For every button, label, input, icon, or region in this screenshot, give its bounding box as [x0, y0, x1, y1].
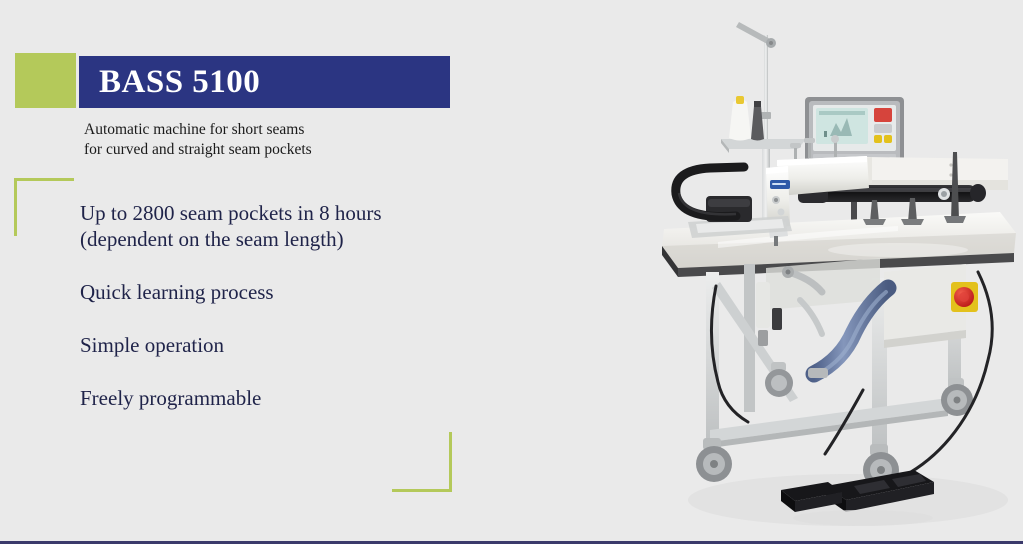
- list-item: Up to 2800 seam pockets in 8 hours (depe…: [80, 200, 500, 252]
- panel-button-yellow[interactable]: [874, 135, 882, 143]
- title-banner: BASS 5100: [79, 56, 450, 108]
- emergency-stop-button[interactable]: [951, 282, 978, 312]
- page-title: BASS 5100: [99, 64, 260, 101]
- list-item: Quick learning process: [80, 279, 500, 305]
- subtitle-line-1: Automatic machine for short seams: [84, 120, 504, 140]
- bullet-0-line-1: (dependent on the seam length): [80, 226, 500, 252]
- machine-photo: [648, 0, 1023, 541]
- bullet-1-line-0: Quick learning process: [80, 279, 500, 305]
- bracket-bottom-right: [392, 432, 452, 492]
- panel-button-red[interactable]: [874, 108, 892, 122]
- subtitle: Automatic machine for short seams for cu…: [84, 120, 504, 160]
- slide-root: BASS 5100 Automatic machine for short se…: [0, 0, 1023, 544]
- subtitle-line-2: for curved and straight seam pockets: [84, 140, 504, 160]
- bullet-0-line-0: Up to 2800 seam pockets in 8 hours: [80, 200, 500, 226]
- list-item: Simple operation: [80, 332, 500, 358]
- title-accent-square: [15, 53, 76, 108]
- feature-list: Up to 2800 seam pockets in 8 hours (depe…: [80, 200, 500, 411]
- machine-illustration: [648, 0, 1023, 541]
- bullet-2-line-0: Simple operation: [80, 332, 500, 358]
- bullet-3-line-0: Freely programmable: [80, 385, 500, 411]
- list-item: Freely programmable: [80, 385, 500, 411]
- bracket-top-left: [14, 178, 74, 236]
